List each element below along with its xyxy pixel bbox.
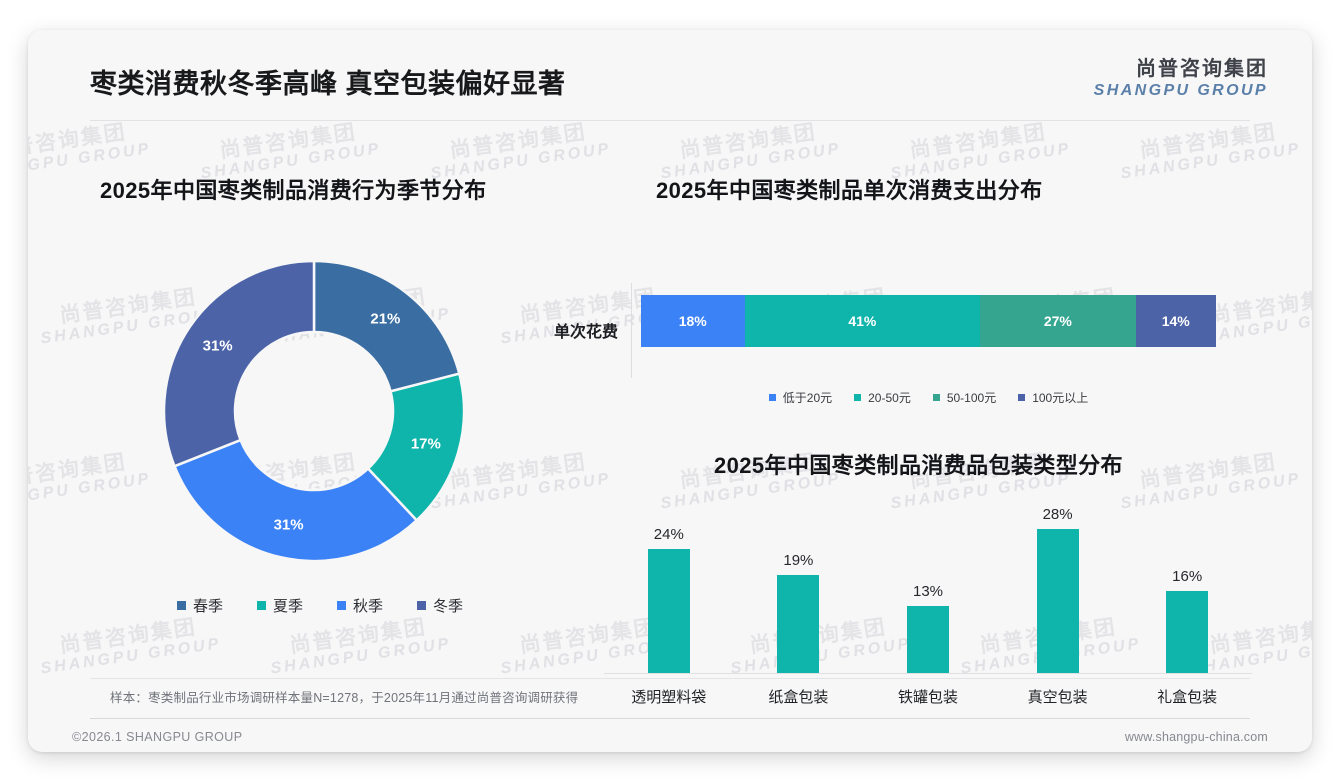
brand-logo: 尚普咨询集团 SHANGPU GROUP — [1094, 58, 1268, 100]
logo-chinese-text: 尚普咨询集团 — [1094, 58, 1268, 82]
legend-item[interactable]: 春季 — [177, 595, 223, 616]
bar-value-label: 13% — [913, 583, 943, 600]
legend-swatch-icon — [769, 394, 776, 401]
logo-english-text: SHANGPU GROUP — [1094, 82, 1268, 101]
footnote-divider — [90, 678, 1250, 679]
legend-item[interactable]: 秋季 — [337, 595, 383, 616]
bar-category-label: 透明塑料袋 — [614, 686, 724, 707]
spend-axis-line — [631, 283, 632, 378]
legend-item[interactable]: 低于20元 — [769, 389, 832, 406]
bar-value-label: 28% — [1043, 506, 1073, 523]
footer-divider — [90, 718, 1250, 719]
legend-swatch-icon — [1018, 394, 1025, 401]
legend-label: 春季 — [193, 595, 223, 616]
legend-label: 低于20元 — [783, 389, 832, 406]
bar-column[interactable]: 28% — [1003, 508, 1113, 673]
packaging-bars-plot: 24%19%13%28%16% — [604, 508, 1252, 673]
infographic-card: 尚普咨询集团SHANGPU GROUP尚普咨询集团SHANGPU GROUP尚普… — [28, 30, 1312, 752]
bar-column[interactable]: 16% — [1132, 508, 1242, 673]
spend-stacked-bar: 18%41%27%14% — [641, 295, 1216, 347]
stacked-bar-segment[interactable]: 18% — [641, 295, 745, 347]
stacked-bar-segment[interactable]: 14% — [1136, 295, 1217, 347]
legend-label: 50-100元 — [947, 389, 996, 406]
season-donut-chart: 21%17%31%31% — [158, 255, 470, 567]
bar-value-label: 16% — [1172, 568, 1202, 585]
donut-slice-value: 31% — [274, 516, 304, 533]
bar-column[interactable]: 13% — [873, 508, 983, 673]
legend-item[interactable]: 100元以上 — [1018, 389, 1088, 406]
legend-swatch-icon — [177, 601, 186, 610]
bar-category-label: 纸盒包装 — [743, 686, 853, 707]
bar-category-label: 真空包装 — [1003, 686, 1113, 707]
legend-item[interactable]: 夏季 — [257, 595, 303, 616]
footnote-text: 样本：枣类制品行业市场调研样本量N=1278，于2025年11月通过尚普咨询调研… — [110, 687, 578, 706]
legend-label: 100元以上 — [1032, 389, 1088, 406]
bar-rect[interactable] — [907, 606, 949, 673]
legend-swatch-icon — [933, 394, 940, 401]
spend-stacked-title: 2025年中国枣类制品单次消费支出分布 — [656, 173, 1043, 205]
bar-category-label: 铁罐包装 — [873, 686, 983, 707]
header: 枣类消费秋冬季高峰 真空包装偏好显著 尚普咨询集团 SHANGPU GROUP — [28, 30, 1312, 122]
charts-body: 2025年中国枣类制品消费行为季节分布 21%17%31%31% 春季夏季秋季冬… — [28, 30, 1312, 752]
footer-copyright: ©2026.1 SHANGPU GROUP — [72, 730, 242, 744]
packaging-axis-line — [604, 673, 1252, 674]
donut-slice-value: 31% — [203, 337, 233, 354]
legend-label: 冬季 — [433, 595, 463, 616]
stacked-bar-segment[interactable]: 41% — [745, 295, 981, 347]
page-title: 枣类消费秋冬季高峰 真空包装偏好显著 — [90, 62, 566, 101]
legend-label: 20-50元 — [868, 389, 911, 406]
legend-swatch-icon — [337, 601, 346, 610]
season-donut-panel: 2025年中国枣类制品消费行为季节分布 21%17%31%31% 春季夏季秋季冬… — [90, 155, 630, 675]
legend-label: 夏季 — [273, 595, 303, 616]
donut-slice-value: 17% — [411, 435, 441, 452]
bar-column[interactable]: 19% — [743, 508, 853, 673]
bar-column[interactable]: 24% — [614, 508, 724, 673]
packaging-bars-title: 2025年中国枣类制品消费品包装类型分布 — [714, 448, 1123, 480]
legend-swatch-icon — [417, 601, 426, 610]
bar-value-label: 24% — [654, 526, 684, 543]
legend-item[interactable]: 冬季 — [417, 595, 463, 616]
bar-category-label: 礼盒包装 — [1132, 686, 1242, 707]
bar-value-label: 19% — [783, 552, 813, 569]
footer-website: www.shangpu-china.com — [1125, 730, 1268, 744]
bar-rect[interactable] — [648, 549, 690, 673]
spend-row-label: 单次花费 — [528, 318, 618, 342]
legend-item[interactable]: 20-50元 — [854, 389, 911, 406]
bar-rect[interactable] — [1166, 591, 1208, 674]
donut-slice[interactable] — [164, 261, 314, 466]
season-donut-title: 2025年中国枣类制品消费行为季节分布 — [100, 173, 487, 205]
spend-stacked-panel: 2025年中国枣类制品单次消费支出分布 单次花费 18%41%27%14% 低于… — [628, 155, 1258, 435]
header-divider — [90, 120, 1250, 121]
legend-swatch-icon — [854, 394, 861, 401]
packaging-bars-panel: 2025年中国枣类制品消费品包装类型分布 24%19%13%28%16% 透明塑… — [628, 430, 1268, 720]
spend-stacked-legend: 低于20元20-50元50-100元100元以上 — [641, 389, 1216, 406]
season-donut-legend: 春季夏季秋季冬季 — [110, 595, 530, 616]
legend-label: 秋季 — [353, 595, 383, 616]
donut-svg — [158, 255, 470, 567]
legend-swatch-icon — [257, 601, 266, 610]
bar-rect[interactable] — [1037, 529, 1079, 673]
donut-slice-value: 21% — [370, 310, 400, 327]
stacked-bar-segment[interactable]: 27% — [980, 295, 1135, 347]
legend-item[interactable]: 50-100元 — [933, 389, 996, 406]
bar-rect[interactable] — [777, 575, 819, 673]
